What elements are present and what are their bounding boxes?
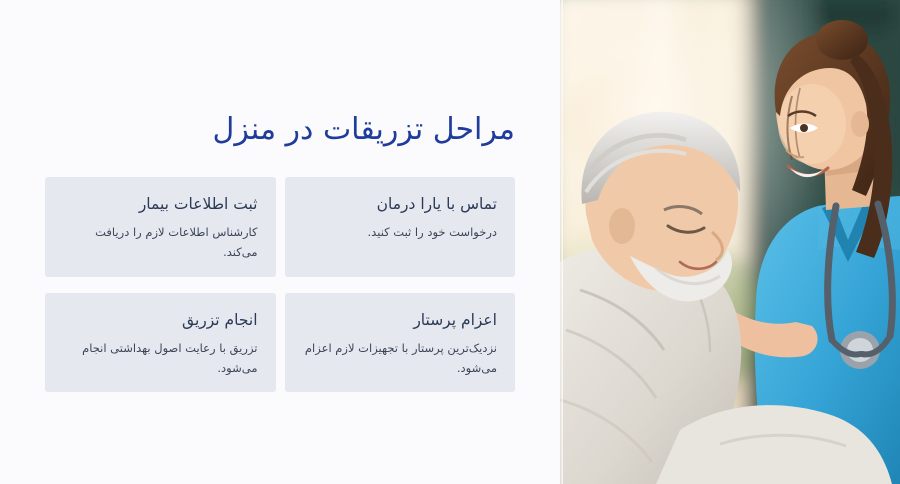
step-card-description: درخواست خود را ثبت کنید. [303, 222, 498, 242]
step-card-description: تزریق با رعایت اصول بهداشتی انجام می‌شود… [63, 338, 258, 378]
step-card-3[interactable]: اعزام پرستار نزدیک‌ترین پرستار با تجهیزا… [285, 293, 516, 393]
step-card-title: انجام تزریق [63, 309, 258, 332]
content-panel: مراحل تزریقات در منزل تماس با یارا درمان… [0, 0, 560, 484]
page-title: مراحل تزریقات در منزل [45, 108, 515, 152]
step-card-4[interactable]: انجام تزریق تزریق با رعایت اصول بهداشتی … [45, 293, 276, 393]
step-card-2[interactable]: ثبت اطلاعات بیمار کارشناس اطلاعات لازم ر… [45, 177, 276, 277]
step-card-title: تماس با یارا درمان [303, 193, 498, 216]
step-card-title: اعزام پرستار [303, 309, 498, 332]
step-card-description: نزدیک‌ترین پرستار با تجهیزات لازم اعزام … [303, 338, 498, 378]
step-card-1[interactable]: تماس با یارا درمان درخواست خود را ثبت کن… [285, 177, 516, 277]
step-card-title: ثبت اطلاعات بیمار [63, 193, 258, 216]
slide-root: مراحل تزریقات در منزل تماس با یارا درمان… [0, 0, 900, 484]
nurse-patient-photo [560, 0, 900, 484]
step-card-description: کارشناس اطلاعات لازم را دریافت می‌کند. [63, 222, 258, 262]
photo-illustration [560, 0, 900, 484]
steps-grid: تماس با یارا درمان درخواست خود را ثبت کن… [45, 177, 515, 392]
